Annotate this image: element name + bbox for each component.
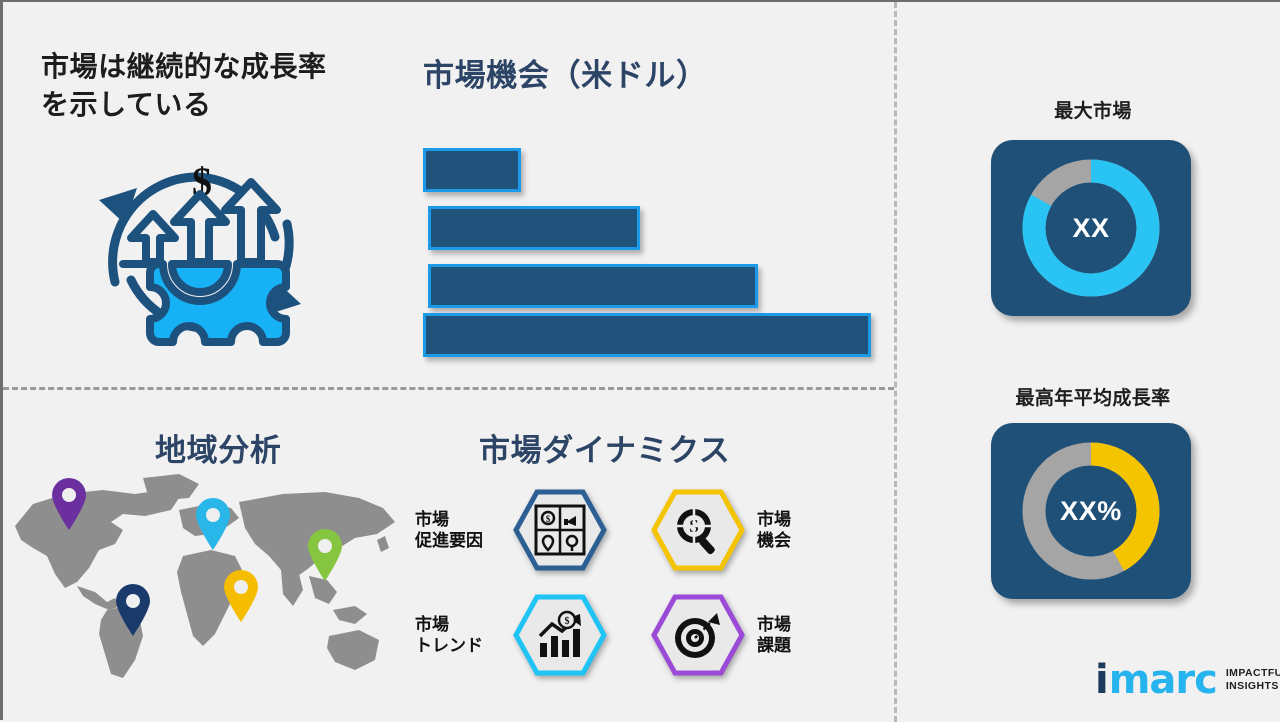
dynamics-item-drivers-label: 市場 促進要因 [415, 509, 501, 552]
dynamics-item-trends-label: 市場 トレンド [415, 614, 501, 657]
pin-east-asia [305, 528, 345, 587]
dynamics-item-opportunity[interactable]: $ 市場 機会 [651, 489, 843, 571]
dynamics-item-trends[interactable]: 市場 トレンド $ [415, 594, 607, 676]
bar-3 [428, 264, 758, 308]
market-dynamics-title: 市場ダイナミクス [479, 425, 879, 470]
largest-market-value: XX [1072, 213, 1109, 244]
largest-market-donut-card: XX [991, 140, 1191, 316]
growth-cycle-gear-icon: $ [75, 132, 325, 370]
logo-tagline-line1: IMPACTFUL [1226, 667, 1280, 680]
bar-4 [423, 313, 871, 357]
pin-middle-east-africa [221, 569, 261, 628]
imarc-logo: i marc IMPACTFUL INSIGHTS [1095, 657, 1265, 703]
dynamics-item-challenges-label: 市場 課題 [757, 614, 843, 657]
market-opportunity-title: 市場機会（米ドル） [423, 50, 853, 95]
pin-europe [193, 497, 233, 556]
logo-tagline: IMPACTFUL INSIGHTS [1226, 667, 1280, 693]
world-map [3, 464, 403, 689]
dynamics-item-challenges[interactable]: 市場 課題 [651, 594, 843, 676]
cagr-title: 最高年平均成長率 [953, 383, 1233, 410]
dynamics-item-opportunity-label: 市場 機会 [757, 509, 843, 552]
horizontal-divider [3, 387, 894, 390]
svg-text:$: $ [546, 514, 551, 524]
largest-market-title: 最大市場 [963, 96, 1223, 123]
bar-2 [428, 206, 640, 250]
logo-mark-i: i [1095, 660, 1109, 700]
cagr-value: XX% [1060, 496, 1122, 527]
target-dart-icon [651, 594, 745, 676]
infographic-slide: 市場は継続的な成長率 を示している $ 市場機会（米ドル） [0, 0, 1280, 720]
bar-1 [423, 148, 521, 192]
dynamics-item-drivers[interactable]: 市場 促進要因 $ [415, 489, 607, 571]
magnifier-dollar-icon: $ [651, 489, 745, 571]
bar-chart-arrow-dollar-icon: $ [513, 594, 607, 676]
svg-text:$: $ [565, 616, 570, 627]
market-opportunity-bar-chart [423, 148, 883, 353]
logo-mark-rest: marc [1109, 660, 1217, 700]
pin-south-america [113, 583, 153, 642]
cagr-donut-card: XX% [991, 423, 1191, 599]
logo-tagline-line2: INSIGHTS [1226, 680, 1280, 693]
growth-title: 市場は継続的な成長率 を示している [41, 48, 391, 124]
vertical-divider [894, 2, 897, 722]
puzzle-pieces-icon: $ [513, 489, 607, 571]
pin-north-america [49, 477, 89, 536]
